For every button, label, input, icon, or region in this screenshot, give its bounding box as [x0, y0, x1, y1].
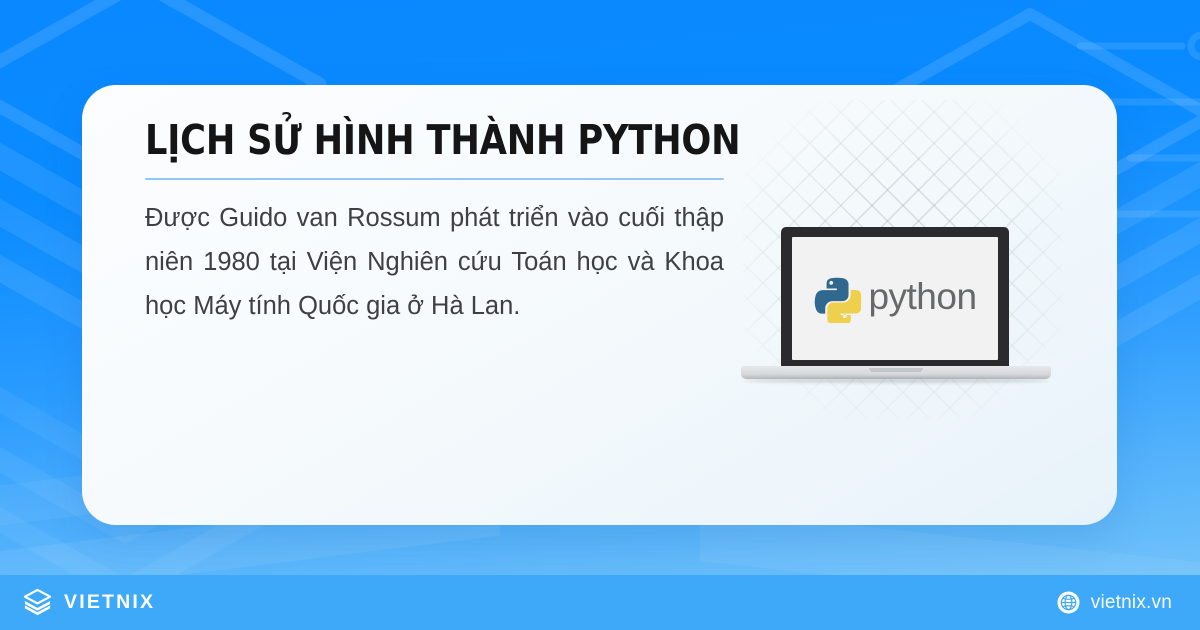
slide-canvas: LỊCH SỬ HÌNH THÀNH PYTHON Được Guido van…	[0, 0, 1200, 630]
content-card: LỊCH SỬ HÌNH THÀNH PYTHON Được Guido van…	[82, 85, 1117, 525]
globe-icon	[1057, 591, 1080, 614]
laptop-trackpad-notch	[869, 368, 923, 372]
laptop-screen: python	[792, 237, 998, 360]
laptop-illustration: python	[741, 227, 1051, 367]
python-wordmark: python	[868, 278, 976, 315]
laptop-shadow	[744, 378, 1048, 383]
laptop-lid: python	[781, 227, 1009, 369]
card-text-column: LỊCH SỬ HÌNH THÀNH PYTHON Được Guido van…	[82, 85, 730, 329]
illustration-column: python	[729, 85, 1117, 525]
brand-name: VIETNIX	[64, 591, 155, 614]
body-paragraph: Được Guido van Rossum phát triển vào cuố…	[145, 197, 724, 329]
footer-bar: VIETNIX vietnix.vn	[0, 575, 1200, 630]
brand-lockup[interactable]: VIETNIX	[22, 587, 155, 618]
title-divider	[145, 178, 724, 180]
site-url-lockup[interactable]: vietnix.vn	[1057, 591, 1172, 614]
python-logo-icon	[813, 275, 861, 323]
vietnix-layers-icon	[22, 587, 53, 618]
site-url: vietnix.vn	[1091, 592, 1172, 614]
page-title: LỊCH SỬ HÌNH THÀNH PYTHON	[145, 119, 704, 162]
